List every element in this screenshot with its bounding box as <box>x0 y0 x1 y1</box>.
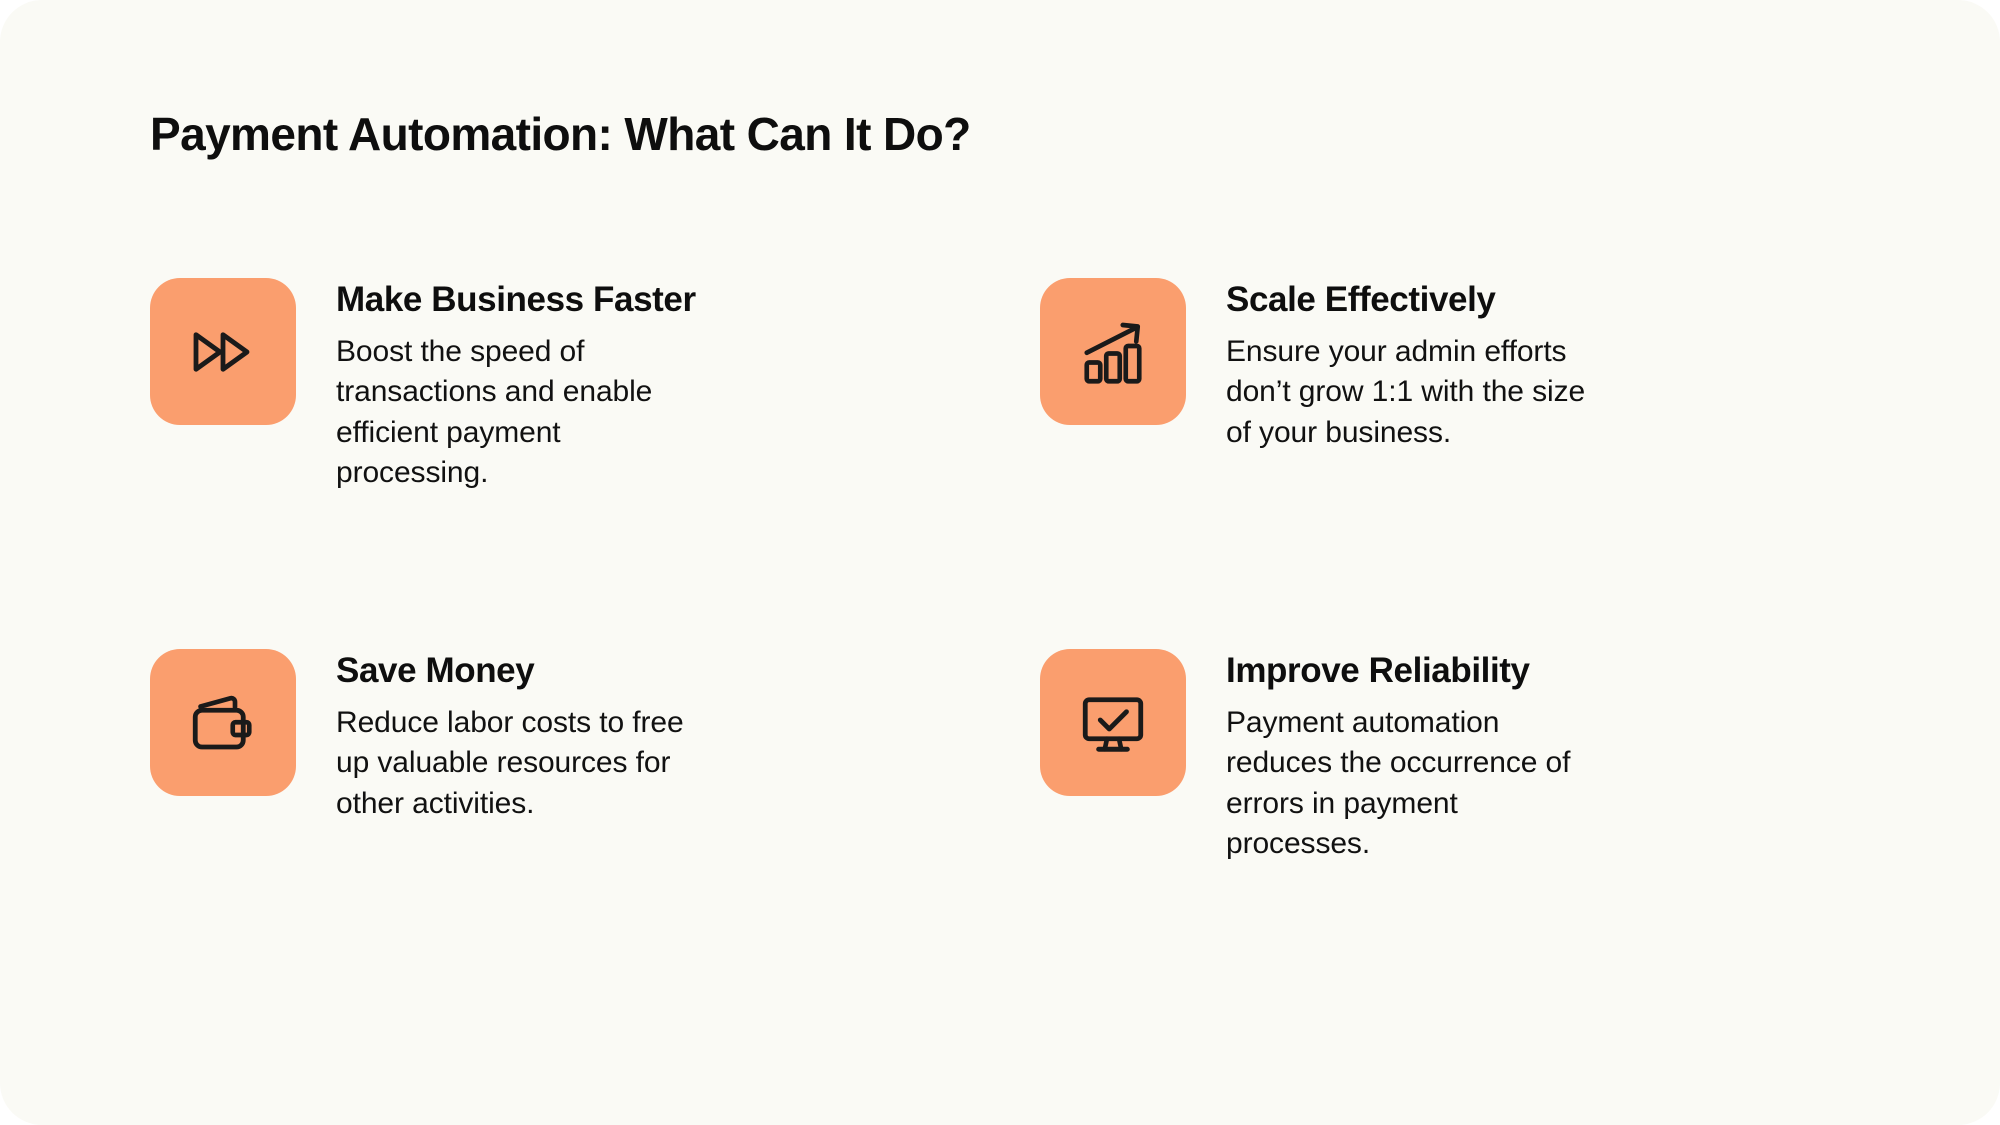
card-title: Improve Reliability <box>1226 651 1586 691</box>
card-body: Payment automation reduces the occurrenc… <box>1226 703 1586 864</box>
card-text: Improve Reliability Payment automation r… <box>1226 649 1586 864</box>
card-title: Save Money <box>336 651 696 691</box>
icon-tile <box>1040 278 1186 425</box>
feature-card-improve-reliability: Improve Reliability Payment automation r… <box>1040 649 1780 864</box>
icon-tile <box>150 278 296 425</box>
card-title: Make Business Faster <box>336 280 696 320</box>
card-body: Reduce labor costs to free up valuable r… <box>336 703 696 824</box>
card-body: Boost the speed of transactions and enab… <box>336 332 666 493</box>
card-text: Scale Effectively Ensure your admin effo… <box>1226 278 1586 453</box>
page-title: Payment Automation: What Can It Do? <box>150 109 971 160</box>
feature-card-save-money: Save Money Reduce labor costs to free up… <box>150 649 890 864</box>
monitor-check-icon <box>1077 687 1149 759</box>
card-title: Scale Effectively <box>1226 280 1586 320</box>
wallet-icon <box>187 687 259 759</box>
card-text: Make Business Faster Boost the speed of … <box>336 278 696 493</box>
feature-card-make-business-faster: Make Business Faster Boost the speed of … <box>150 278 890 493</box>
feature-card-scale-effectively: Scale Effectively Ensure your admin effo… <box>1040 278 1780 493</box>
icon-tile <box>1040 649 1186 796</box>
infographic-page: Payment Automation: What Can It Do? Make… <box>0 0 2000 1125</box>
card-text: Save Money Reduce labor costs to free up… <box>336 649 696 824</box>
bar-chart-growth-icon <box>1077 316 1149 388</box>
icon-tile <box>150 649 296 796</box>
fast-forward-icon <box>187 316 259 388</box>
feature-grid: Make Business Faster Boost the speed of … <box>150 278 1870 864</box>
card-body: Ensure your admin efforts don’t grow 1:1… <box>1226 332 1586 453</box>
